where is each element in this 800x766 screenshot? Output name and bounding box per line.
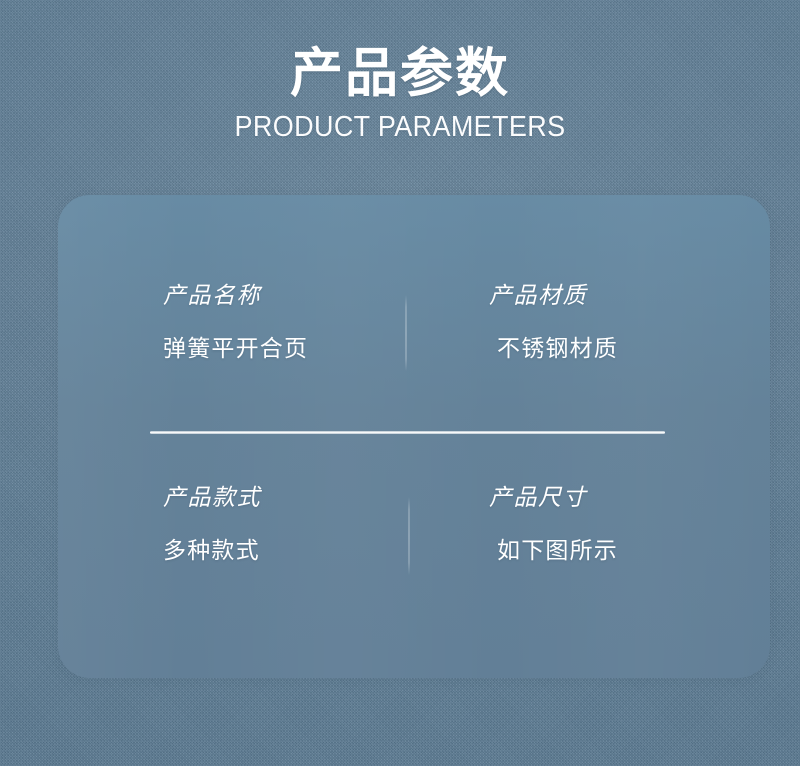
spec-label: 产品款式 [163, 485, 414, 511]
column-divider-top [405, 295, 407, 371]
page-title-chinese: 产品参数 [0, 0, 800, 104]
spec-value: 如下图所示 [497, 538, 770, 564]
spec-cell-product-style: 产品款式 多种款式 [58, 485, 414, 625]
product-parameters-page: 产品参数 PRODUCT PARAMETERS 产品名称 弹簧平开合页 产品材质… [0, 0, 800, 766]
spec-label: 产品尺寸 [489, 485, 770, 511]
spec-grid: 产品名称 弹簧平开合页 产品材质 不锈钢材质 产品款式 多种款式 产品尺寸 如下… [58, 195, 770, 678]
spec-value: 弹簧平开合页 [163, 336, 414, 362]
spec-cell-product-material: 产品材质 不锈钢材质 [414, 283, 770, 423]
spec-cell-product-name: 产品名称 弹簧平开合页 [58, 283, 414, 423]
spec-value: 多种款式 [163, 538, 414, 564]
spec-cell-product-size: 产品尺寸 如下图所示 [414, 485, 770, 625]
spec-row: 产品款式 多种款式 产品尺寸 如下图所示 [58, 485, 770, 625]
row-divider [150, 431, 665, 434]
spec-row: 产品名称 弹簧平开合页 产品材质 不锈钢材质 [58, 283, 770, 423]
column-divider-bottom [408, 497, 410, 575]
spec-label: 产品材质 [489, 283, 770, 309]
spec-value: 不锈钢材质 [497, 336, 770, 362]
page-heading: 产品参数 PRODUCT PARAMETERS [0, 0, 800, 143]
page-title-english: PRODUCT PARAMETERS [28, 104, 772, 143]
spec-label: 产品名称 [163, 283, 414, 309]
